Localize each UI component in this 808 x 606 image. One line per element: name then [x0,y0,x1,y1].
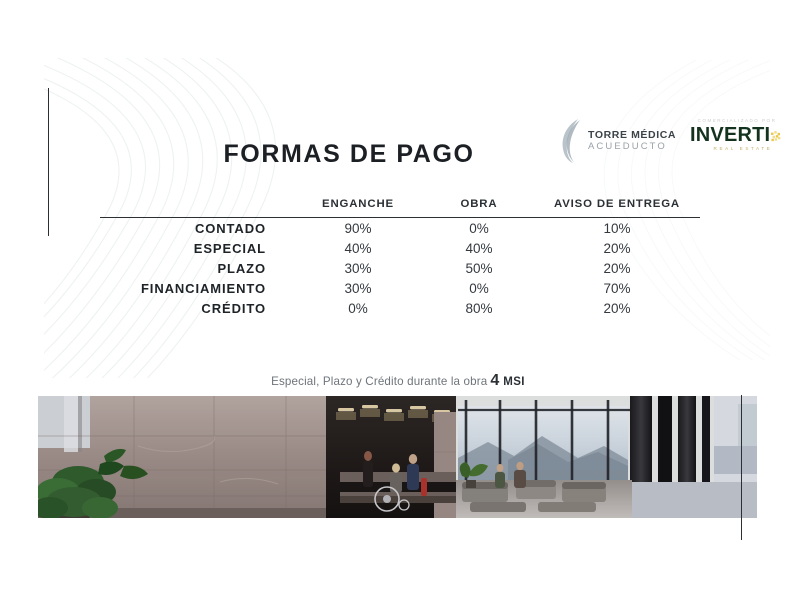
cell-especial-aviso: 20% [534,238,700,258]
cell-plazo-obra: 50% [424,258,534,278]
right-vertical-rule [741,395,742,540]
table-row: PLAZO 30% 50% 20% [100,258,700,278]
cell-credito-aviso: 20% [534,299,700,319]
row-label-credito: CRÉDITO [100,299,292,319]
footnote-msi-unit: MSI [503,376,525,388]
table-row: ESPECIAL 40% 40% 20% [100,238,700,258]
payment-table-container: ENGANCHE OBRA AVISO DE ENTREGA CONTADO 9… [100,198,700,319]
payment-table: ENGANCHE OBRA AVISO DE ENTREGA CONTADO 9… [100,198,700,319]
row-label-financiamiento: FINANCIAMIENTO [100,279,292,299]
payment-table-body: CONTADO 90% 0% 10% ESPECIAL 40% 40% 20% … [100,218,700,319]
page-title: FORMAS DE PAGO [0,140,808,169]
cell-plazo-enganche: 30% [292,258,424,278]
footnote: Especial, Plazo y Crédito durante la obr… [0,372,808,390]
column-header-enganche: ENGANCHE [292,198,424,218]
row-label-contado: CONTADO [100,218,292,239]
cell-credito-obra: 80% [424,299,534,319]
inverti-tagline: COMERCIALIZADO POR [690,118,782,123]
lobby-render-photo [38,396,757,518]
table-header-row: ENGANCHE OBRA AVISO DE ENTREGA [100,198,700,218]
cell-financiamiento-aviso: 70% [534,279,700,299]
column-header-blank [100,198,292,218]
cell-especial-obra: 40% [424,238,534,258]
row-label-plazo: PLAZO [100,258,292,278]
table-row: FINANCIAMIENTO 30% 0% 70% [100,279,700,299]
footnote-text: Especial, Plazo y Crédito durante la obr… [271,375,487,388]
cell-contado-aviso: 10% [534,218,700,239]
column-header-aviso-de-entrega: AVISO DE ENTREGA [534,198,700,218]
cell-plazo-aviso: 20% [534,258,700,278]
table-row: CRÉDITO 0% 80% 20% [100,299,700,319]
cell-contado-obra: 0% [424,218,534,239]
footnote-msi-number: 4 [490,372,499,389]
cell-especial-enganche: 40% [292,238,424,258]
slide-canvas: TORRE MÉDICA ACUEDUCTO COMERCIALIZADO PO… [0,0,808,606]
cell-financiamiento-enganche: 30% [292,279,424,299]
payment-table-head: ENGANCHE OBRA AVISO DE ENTREGA [100,198,700,218]
cell-credito-enganche: 0% [292,299,424,319]
cell-contado-enganche: 90% [292,218,424,239]
table-row: CONTADO 90% 0% 10% [100,218,700,239]
cell-financiamiento-obra: 0% [424,279,534,299]
row-label-especial: ESPECIAL [100,238,292,258]
column-header-obra: OBRA [424,198,534,218]
